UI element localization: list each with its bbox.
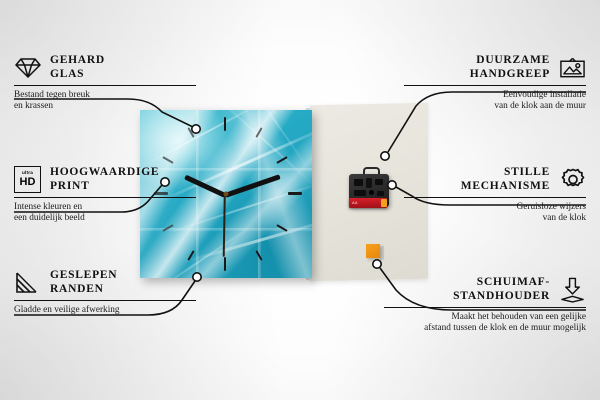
foam-spacer xyxy=(366,244,380,258)
feature-title: HOOGWAARDIGE PRINT xyxy=(50,166,159,193)
battery-terminal xyxy=(381,199,387,207)
feature-description: Geruisloze wijzers van de klok xyxy=(404,202,586,224)
feature-description: Bestand tegen breuk en krassen xyxy=(14,90,196,112)
feature-duurzame-handgreep: DUURZAME HANDGREEP Eenvoudige installati… xyxy=(404,54,586,112)
ultra-hd-icon-large-text: HD xyxy=(20,177,36,188)
feature-title: DUURZAME HANDGREEP xyxy=(470,54,550,81)
feature-description: Maakt het behouden van een gelijke afsta… xyxy=(384,312,586,334)
picture-frame-icon xyxy=(559,54,586,81)
feature-gehard-glas: GEHARD GLAS Bestand tegen breuk en krass… xyxy=(14,54,196,112)
ultra-hd-icon: ultra HD xyxy=(14,166,41,193)
feature-description: Intense kleuren en een duidelijk beeld xyxy=(14,202,196,224)
foam-spacer-side xyxy=(380,246,384,261)
beveled-edges-icon xyxy=(14,269,41,296)
diamond-icon xyxy=(14,54,41,81)
feature-description: Gladde en veilige afwerking xyxy=(14,305,196,316)
feature-description: Eenvoudige installatie van de klok aan d… xyxy=(404,90,586,112)
feature-title: STILLE MECHANISME xyxy=(461,166,550,193)
feature-title: GESLEPEN RANDEN xyxy=(50,269,117,296)
feature-divider xyxy=(14,197,196,198)
feature-schuimafstandhouder: SCHUIMAF- STANDHOUDER Maakt het behouden… xyxy=(384,276,586,334)
battery-label: AA xyxy=(352,200,358,205)
clock-tick xyxy=(288,192,302,195)
feature-divider xyxy=(404,85,586,86)
feature-divider xyxy=(404,197,586,198)
feature-title: GEHARD GLAS xyxy=(50,54,105,81)
clock-center-cap xyxy=(224,192,229,197)
press-down-icon xyxy=(559,276,586,303)
feature-stille-mechanisme: STILLE MECHANISME Geruisloze wijzers van… xyxy=(404,166,586,224)
feature-divider xyxy=(14,85,196,86)
gear-icon xyxy=(559,166,586,193)
clock-tick xyxy=(224,257,226,271)
feature-divider xyxy=(14,300,196,301)
feature-divider xyxy=(384,307,586,308)
feature-title: SCHUIMAF- STANDHOUDER xyxy=(453,276,550,303)
feature-hoogwaardige-print: ultra HD HOOGWAARDIGE PRINT Intense kleu… xyxy=(14,166,196,224)
feature-geslepen-randen: GESLEPEN RANDEN Gladde en veilige afwerk… xyxy=(14,269,196,316)
infographic-canvas: AA GEHARD xyxy=(0,0,600,400)
clock-tick xyxy=(224,117,226,131)
